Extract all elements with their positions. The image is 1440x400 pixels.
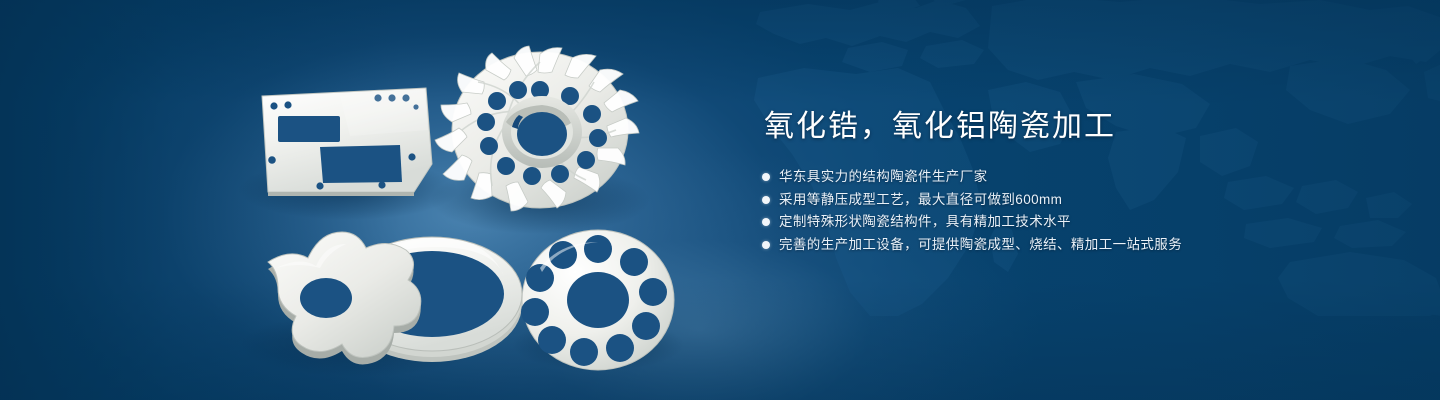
bullet-dot-icon bbox=[762, 173, 770, 181]
feature-label: 采用等静压成型工艺，最大直径可做到600mm bbox=[779, 189, 1062, 212]
bullet-dot-icon bbox=[762, 196, 770, 204]
bullet-dot-icon bbox=[762, 218, 770, 226]
banner-copy: 氧化锆，氧化铝陶瓷加工 华东具实力的结构陶瓷件生产厂家 采用等静压成型工艺，最大… bbox=[762, 106, 1322, 256]
feature-label: 华东具实力的结构陶瓷件生产厂家 bbox=[779, 166, 988, 189]
feature-label: 完善的生产加工设备，可提供陶瓷成型、烧结、精加工一站式服务 bbox=[779, 234, 1182, 257]
feature-item: 定制特殊形状陶瓷结构件，具有精加工技术水平 bbox=[762, 211, 1322, 234]
feature-item: 完善的生产加工设备，可提供陶瓷成型、烧结、精加工一站式服务 bbox=[762, 234, 1322, 257]
ceramic-machined-plate bbox=[262, 88, 432, 196]
product-photo-cluster bbox=[0, 0, 740, 400]
feature-item: 华东具实力的结构陶瓷件生产厂家 bbox=[762, 166, 1322, 189]
ceramic-perforated-disc bbox=[521, 230, 674, 370]
promo-banner: 氧化锆，氧化铝陶瓷加工 华东具实力的结构陶瓷件生产厂家 采用等静压成型工艺，最大… bbox=[0, 0, 1440, 400]
bullet-dot-icon bbox=[762, 241, 770, 249]
feature-item: 采用等静压成型工艺，最大直径可做到600mm bbox=[762, 189, 1322, 212]
feature-list: 华东具实力的结构陶瓷件生产厂家 采用等静压成型工艺，最大直径可做到600mm 定… bbox=[762, 166, 1322, 256]
banner-headline: 氧化锆，氧化铝陶瓷加工 bbox=[764, 106, 1322, 148]
feature-label: 定制特殊形状陶瓷结构件，具有精加工技术水平 bbox=[779, 211, 1071, 234]
